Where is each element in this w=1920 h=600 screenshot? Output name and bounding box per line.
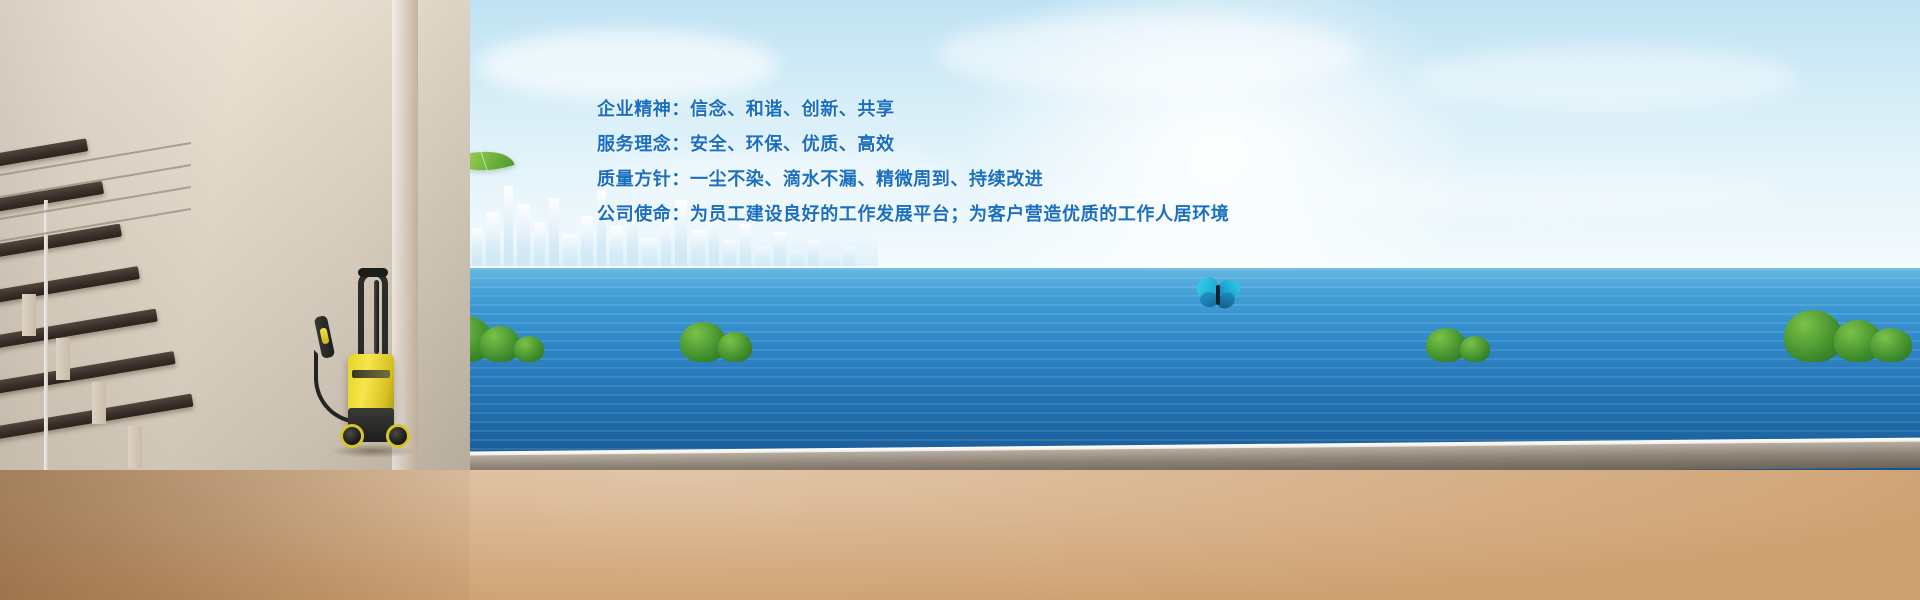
butterfly-body [1216,285,1220,305]
leaf-vein [480,150,488,171]
washer-handle-grip [358,268,388,277]
stair-riser [92,382,106,424]
cloud [1318,170,1778,216]
tree [1460,336,1490,362]
staircase [0,140,210,490]
tree [1870,328,1912,362]
stair-step [0,266,140,307]
cloud [1418,46,1798,110]
mission-statement-block: 企业精神：信念、和谐、创新、共享 服务理念：安全、环保、优质、高效 质量方针：一… [597,92,1357,232]
washer-handle [358,270,388,362]
tree [718,332,752,362]
banner-stage: 企业精神：信念、和谐、创新、共享 服务理念：安全、环保、优质、高效 质量方针：一… [0,0,1920,600]
copy-line-corporate-spirit: 企业精神：信念、和谐、创新、共享 [597,92,1357,127]
stair-riser [128,426,142,468]
railing-post [44,200,48,500]
washer-wheel [340,424,364,448]
shoreline-trees [418,300,1920,362]
floor-shadow-left [0,470,470,600]
cloud [478,30,778,100]
copy-line-service-philosophy: 服务理念：安全、环保、优质、高效 [597,127,1357,162]
pressure-washer [312,258,424,458]
tree [514,336,544,362]
sea-mural: 企业精神：信念、和谐、创新、共享 服务理念：安全、环保、优质、高效 质量方针：一… [418,0,1920,472]
washer-wheel [386,424,410,448]
stair-riser [22,294,36,336]
butterfly-icon [1196,278,1240,312]
stair-riser [56,338,70,380]
copy-line-company-mission: 公司使命：为员工建设良好的工作发展平台；为客户营造优质的工作人居环境 [597,197,1357,232]
cloud [938,14,1358,94]
washer-label [352,370,390,378]
washer-lance [374,280,379,354]
copy-line-quality-policy: 质量方针：一尘不染、滴水不漏、精微周到、持续改进 [597,162,1357,197]
stair-step [0,351,176,398]
tree [1784,310,1842,362]
